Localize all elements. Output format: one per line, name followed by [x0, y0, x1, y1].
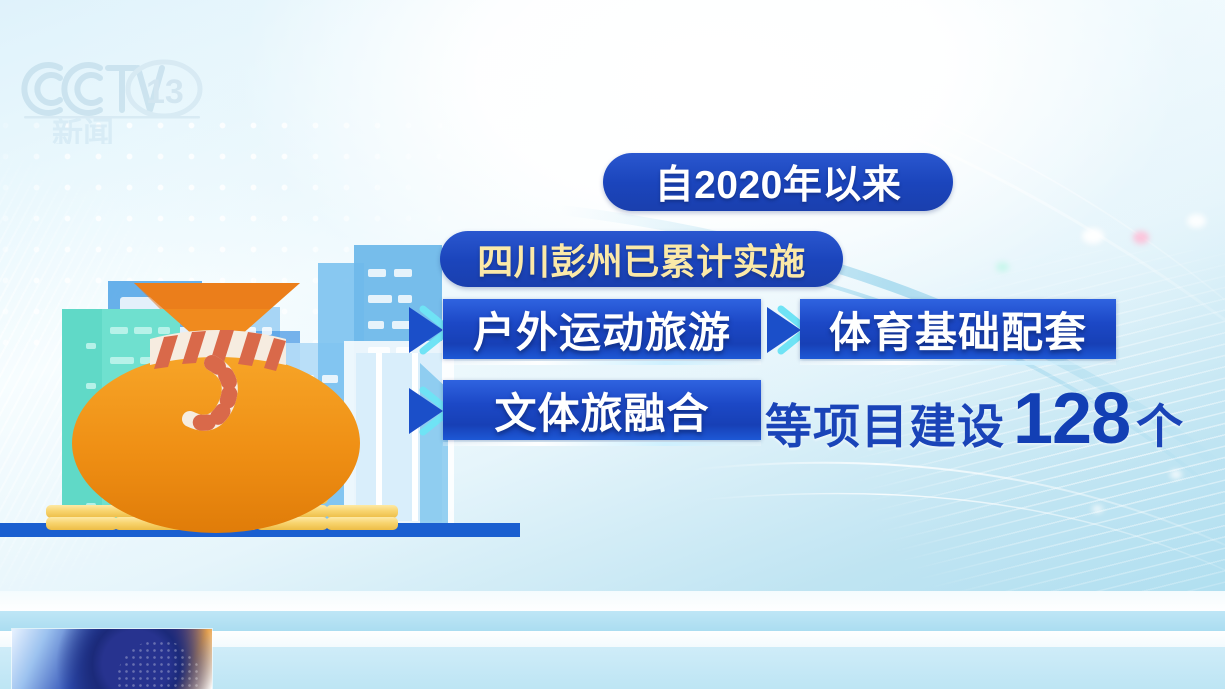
bokeh-dot [1170, 470, 1182, 479]
bokeh-dot [1082, 228, 1104, 244]
region-pill: 四川彭州已累计实施 [440, 231, 843, 287]
bokeh-dot [1133, 231, 1149, 244]
bokeh-dot [1092, 505, 1103, 513]
category-bar-outdoor: 户外运动旅游 [443, 299, 761, 359]
category-bar-underline [800, 361, 1116, 365]
cctv13-watermark-icon: 13 新闻 [24, 62, 200, 144]
since-year-label: 自2020年以来 [655, 154, 902, 210]
summary-prefix-label: 等项目建设 [765, 388, 1005, 457]
cctv13-logo: 13 新闻 [14, 48, 214, 144]
category-bar-culture: 文体旅融合 [443, 380, 761, 440]
news-globe-thumbnail-icon [12, 629, 212, 689]
bottom-band-white [0, 591, 1225, 613]
svg-text:13: 13 [146, 73, 184, 111]
category-label-outdoor: 户外运动旅游 [473, 299, 731, 360]
bokeh-dot [1187, 214, 1206, 228]
since-year-pill: 自2020年以来 [603, 153, 953, 211]
category-bar-sports: 体育基础配套 [800, 299, 1116, 359]
globe-mesh [116, 640, 202, 689]
broadcast-graphic-stage: 13 新闻 [0, 0, 1225, 689]
category-bar-underline [443, 361, 761, 365]
region-label: 四川彭州已累计实施 [477, 233, 806, 285]
bokeh-dot [996, 262, 1009, 272]
summary-text: 等项目建设 128 个 [765, 378, 1183, 460]
category-label-culture: 文体旅融合 [494, 380, 709, 441]
category-label-sports: 体育基础配套 [829, 299, 1087, 360]
summary-unit-label: 个 [1136, 388, 1183, 457]
category-bar-underline [443, 442, 761, 446]
channel-name-label: 新闻 [52, 116, 114, 144]
summary-number: 128 [1013, 378, 1130, 460]
